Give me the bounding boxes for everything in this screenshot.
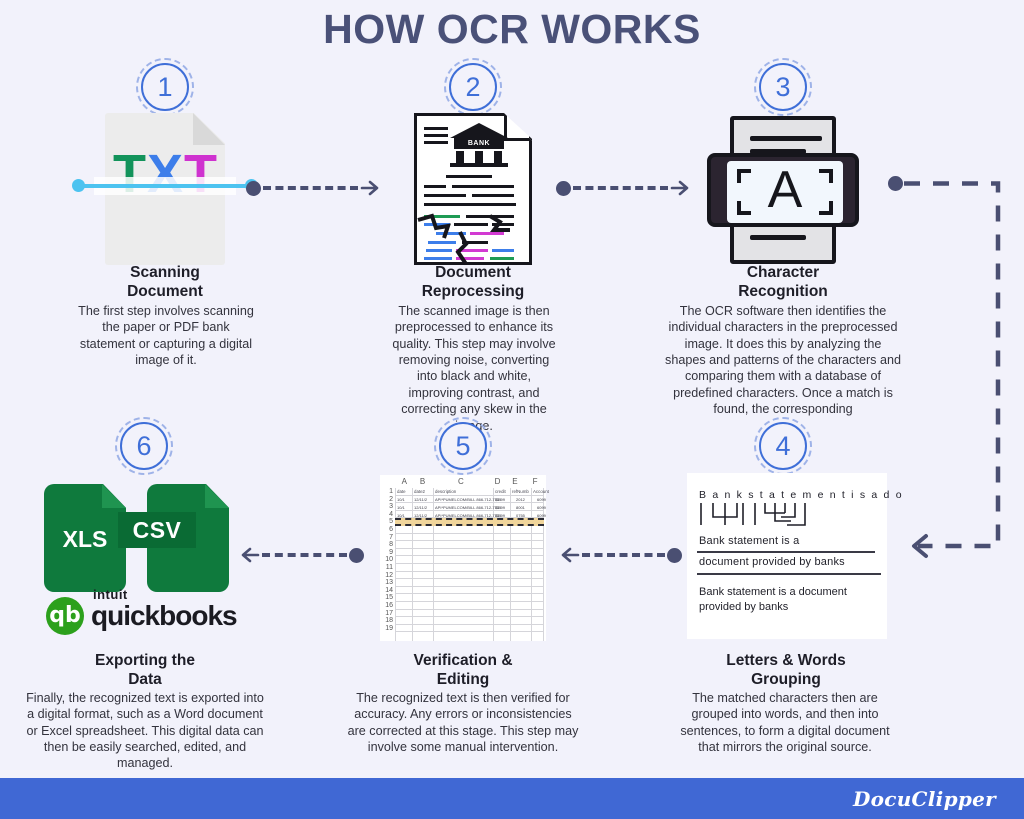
arrow-step5-to-step6 <box>240 543 364 567</box>
cell-value: 6099 <box>537 513 546 518</box>
bank-building-icon: BANK <box>450 123 508 167</box>
spaced-letters-line: B a n k s t a t e m e n t i s a d o <box>699 489 879 501</box>
footer-bar: DocuClipper <box>0 778 1024 819</box>
row-number: 15 <box>380 594 395 602</box>
cell-value: 8001 <box>516 505 525 510</box>
row-number: 19 <box>380 625 395 633</box>
step-badge-2: 2 <box>444 58 502 116</box>
txt-document-icon: T X T <box>105 113 225 265</box>
step-title-2: Document Reprocessing <box>368 264 578 302</box>
arrow-step4-to-step5 <box>560 543 682 567</box>
scanner-screen: A <box>727 161 843 223</box>
grouped-words-line-2: document provided by banks <box>699 556 845 568</box>
brand-logo: DocuClipper <box>853 787 996 811</box>
cell-value: 12/11/2 <box>414 505 427 510</box>
xls-label: XLS <box>44 526 126 553</box>
step-title-4: Letters & Words Grouping <box>678 652 894 690</box>
column-letter-c: C <box>433 477 490 488</box>
step-title-1: Scanning Document <box>60 264 270 302</box>
cell-value: $2.99 <box>495 513 505 518</box>
quickbooks-mark-icon: qb <box>46 597 84 635</box>
row-number: 12 <box>380 572 395 580</box>
column-letter-d: D <box>489 477 505 488</box>
spreadsheet-cells: date date2 description credit refNumb Ac… <box>395 488 544 641</box>
arrow-step2-to-step3 <box>556 176 690 200</box>
cell-value: API*PUMELCOM/BILL 866-712-7755 <box>435 497 501 502</box>
cell-value: 0755 <box>516 513 525 518</box>
step-title-3: Character Recognition <box>678 264 888 302</box>
letter-grouping-panel: B a n k s t a t e m e n t i s a d o Bank… <box>687 473 887 639</box>
final-sentence: Bank statement is a document provided by… <box>699 585 879 615</box>
cell-value: 10/1 <box>397 505 405 510</box>
row-number: 3 <box>380 503 395 511</box>
cell-value: 12/11/2 <box>414 497 427 502</box>
step-badge-1: 1 <box>136 58 194 116</box>
highlighted-row <box>395 518 544 526</box>
cell-value: 12/11/2 <box>414 513 427 518</box>
column-letter-e: E <box>506 477 524 488</box>
intuit-label: intuit <box>93 587 128 602</box>
badge-number-5: 5 <box>439 422 487 470</box>
row-number: 1 <box>380 488 395 496</box>
grouping-rule-1 <box>697 551 875 553</box>
page-fold-icon <box>193 113 225 145</box>
quickbooks-label: quickbooks <box>91 600 237 632</box>
page-title: HOW OCR WORKS <box>0 6 1024 53</box>
quickbooks-logo: qb intuit quickbooks <box>46 597 237 635</box>
cell-value: 10/1 <box>397 513 405 518</box>
step-title-6: Exporting the Data <box>40 652 250 690</box>
cell-value: 2012 <box>516 497 525 502</box>
scanner-body-shape: A <box>707 153 859 227</box>
column-letter-a: A <box>396 477 412 488</box>
cell-value: $2.99 <box>495 505 505 510</box>
row-number: 9 <box>380 549 395 557</box>
step-body-4: The matched characters then are grouped … <box>676 690 894 755</box>
step-body-2: The scanned image is then preprocessed t… <box>390 303 558 434</box>
badge-number-4: 4 <box>759 422 807 470</box>
crack-icon <box>414 208 532 266</box>
cell-value: 10/1 <box>397 497 405 502</box>
step-body-3: The OCR software then identifies the ind… <box>665 303 901 418</box>
cell-value: $2.99 <box>495 497 505 502</box>
spreadsheet-row-numbers: 1 2 3 4 5 6 7 8 9 10 11 12 13 14 15 16 1… <box>380 488 395 641</box>
header-date: date <box>397 489 406 494</box>
scanner-beam-icon <box>72 175 258 197</box>
row-number: 14 <box>380 587 395 595</box>
infographic-canvas: HOW OCR WORKS 1 T X T Scanning Document … <box>0 0 1024 819</box>
badge-number-2: 2 <box>449 63 497 111</box>
step-badge-6: 6 <box>115 417 173 475</box>
step-body-5: The recognized text is then verified for… <box>345 690 581 755</box>
column-letter-b: B <box>412 477 432 488</box>
row-number: 8 <box>380 541 395 549</box>
row-number: 11 <box>380 564 395 572</box>
grouped-words-line-1: Bank statement is a <box>699 535 799 547</box>
header-refnumb: refNumb <box>512 489 529 494</box>
row-number: 16 <box>380 602 395 610</box>
xls-file-icon: XLS <box>44 484 126 592</box>
step-body-1: The first step involves scanning the pap… <box>78 303 254 368</box>
grouping-brackets-icon <box>699 503 879 531</box>
row-number: 4 <box>380 511 395 519</box>
cell-value: 6099 <box>537 505 546 510</box>
row-number: 5 <box>380 518 395 526</box>
step-badge-3: 3 <box>754 58 812 116</box>
cell-value: 6099 <box>537 497 546 502</box>
spreadsheet-column-headers: A B C D E F <box>396 477 546 488</box>
column-letter-f: F <box>524 477 546 488</box>
header-credit: credit <box>495 489 506 494</box>
header-account: Account <box>533 489 549 494</box>
bank-label: BANK <box>454 138 504 149</box>
grouping-rule-2 <box>697 573 881 575</box>
header-date2: date2 <box>414 489 425 494</box>
character-scanner-icon: A <box>707 116 859 264</box>
cell-value: API*PUMELCOM/BILL 866-712-7755 <box>435 505 501 510</box>
spreadsheet-icon: A B C D E F 1 2 3 4 5 6 7 8 9 10 11 12 1… <box>380 475 546 641</box>
step-body-6: Finally, the recognized text is exported… <box>25 690 265 772</box>
step-badge-4: 4 <box>754 417 812 475</box>
csv-label: CSV <box>118 512 196 548</box>
spreadsheet-grid: 1 2 3 4 5 6 7 8 9 10 11 12 13 14 15 16 1… <box>380 488 546 641</box>
badge-number-6: 6 <box>120 422 168 470</box>
arrow-step3-to-step4 <box>888 168 1014 562</box>
step-title-5: Verification & Editing <box>358 652 568 690</box>
row-number: 2 <box>380 496 395 504</box>
cell-value: API*PUMELCOM/BILL 866-712-7755 <box>435 513 501 518</box>
row-number: 6 <box>380 526 395 534</box>
row-number: 7 <box>380 534 395 542</box>
row-number: 10 <box>380 556 395 564</box>
badge-number-3: 3 <box>759 63 807 111</box>
row-number: 13 <box>380 579 395 587</box>
bank-statement-document-icon: BANK <box>414 113 532 265</box>
header-description: description <box>435 489 456 494</box>
step-badge-5: 5 <box>434 417 492 475</box>
arrow-step1-to-step2 <box>246 176 380 200</box>
row-number: 17 <box>380 610 395 618</box>
badge-number-1: 1 <box>141 63 189 111</box>
row-number: 18 <box>380 617 395 625</box>
